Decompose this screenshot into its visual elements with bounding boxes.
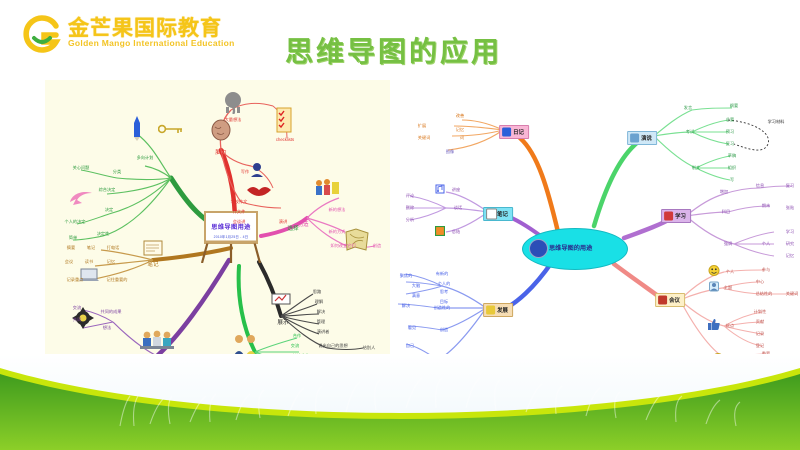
right-branch-label-1: 演说: [641, 136, 652, 142]
presentation-icon: [271, 293, 291, 311]
arrow-icon: [68, 190, 94, 210]
left-map-center-easel: 思维导图用途 2010年1月25日 - 4日: [200, 211, 262, 263]
right-branch-label-2: 学习: [675, 214, 686, 220]
smiley-yellow-icon: [709, 264, 720, 280]
left-node-0-6: 简单: [69, 236, 77, 240]
slide-canvas: 金芒果国际教育 Golden Mango International Educa…: [0, 0, 800, 450]
left-node-5-0: 合作: [293, 334, 301, 338]
left-node-6-1: 交流: [73, 306, 81, 310]
right-branch-badge-3: 会议: [655, 293, 685, 307]
person-blue-icon: [709, 280, 720, 296]
right-node-1-8: 草稿: [728, 154, 736, 158]
right-node-3-6: 优点: [726, 324, 734, 328]
right-node-5-0: 讲座: [452, 188, 460, 192]
left-node-0-2: 分类: [113, 170, 121, 174]
left-node-1-5: 会谈讲: [233, 220, 246, 224]
books-icon: [664, 212, 673, 221]
right-node-4-8: 解决: [402, 304, 410, 308]
left-branch-label-4: 展示: [277, 321, 288, 327]
right-node-2-4: 期末: [762, 204, 770, 208]
right-node-0-5: 图像: [446, 150, 454, 154]
right-node-1-5: 复习: [726, 142, 734, 146]
right-node-2-2: 复习: [786, 184, 794, 188]
left-node-4-1: 理解: [315, 300, 323, 304]
right-node-0-3: 关键词: [418, 136, 431, 140]
right-node-3-7: 计划性: [754, 310, 767, 314]
thinker-icon: [249, 162, 265, 182]
left-node-1-1: checklists: [276, 138, 294, 142]
right-node-2-3: 科目: [722, 210, 730, 214]
right-node-5-3: 删除: [406, 206, 414, 210]
left-node-6-3: 想法: [103, 326, 111, 330]
right-branch-badge-5: 笔记: [483, 207, 513, 221]
left-node-1-6: 演讲: [279, 220, 287, 224]
left-node-3-2: 打电话: [107, 246, 120, 250]
right-node-1-3: 总要: [726, 118, 734, 122]
left-branch-label-3: 笔记: [147, 263, 158, 269]
right-node-2-10: 记忆: [786, 254, 794, 258]
right-node-4-11: 自己: [406, 344, 414, 348]
right-node-2-8: 学习: [786, 230, 794, 234]
thumbs-up-icon: [708, 318, 720, 334]
speech-icon: [630, 134, 639, 143]
lips-icon: [246, 184, 272, 200]
development-icon: [486, 306, 495, 315]
left-node-6-2: 共同: [73, 318, 81, 322]
left-node-3-0: 摘要: [67, 246, 75, 250]
right-node-3-2: 主题: [724, 286, 732, 290]
right-branch-badge-0: 日记: [499, 125, 529, 139]
right-branch-label-4: 发展: [497, 308, 508, 314]
diary-person-icon: [502, 128, 511, 137]
pen-icon: [132, 115, 142, 145]
left-node-1-3: 学校作文: [231, 200, 248, 204]
right-node-5-2: 评论: [406, 194, 414, 198]
left-node-1-0: 大量想法: [225, 118, 242, 122]
right-node-2-7: 个人: [762, 242, 770, 246]
right-node-4-1: 个人的: [438, 282, 451, 286]
mango-g-logo-icon: [22, 14, 62, 54]
page-title: 思维导图的应用: [285, 30, 502, 70]
left-node-0-3: 综合决定: [99, 188, 116, 192]
right-node-1-0: 发言: [684, 106, 692, 110]
left-node-3-7: 记住重要的: [107, 278, 128, 282]
people-group-icon: [314, 179, 340, 201]
notebook-icon: [486, 209, 497, 220]
lecture-icon: [435, 182, 445, 198]
meeting-icon: [658, 296, 667, 305]
left-node-1-2: 写作: [241, 170, 249, 174]
left-node-3-6: 记录重点: [67, 278, 84, 282]
right-node-2-9: 研究: [786, 242, 794, 246]
brand-logo: 金芒果国际教育 Golden Mango International Educa…: [22, 12, 232, 58]
right-node-1-10: 写: [730, 178, 734, 182]
right-node-3-4: 总结性的: [756, 292, 773, 296]
left-node-4-0: 思路: [313, 290, 321, 294]
right-node-4-0: 有新的: [436, 272, 449, 276]
right-node-4-10: 看见: [408, 326, 416, 330]
left-node-3-5: 记忆: [107, 260, 115, 264]
right-node-0-4: 词: [460, 136, 464, 140]
left-node-0-1: 关心问题: [73, 166, 90, 170]
right-node-5-1: 谈话: [454, 206, 462, 210]
grass-banner-svg: [0, 354, 800, 450]
left-node-4-2: 解决: [317, 310, 325, 314]
left-node-0-0: 多向计划: [137, 156, 154, 160]
right-map-center-node: 思维导图的用途: [522, 228, 628, 270]
left-node-0-7: 决定性: [97, 232, 110, 236]
right-branch-badge-2: 学习: [661, 209, 691, 223]
right-branch-label-0: 日记: [513, 130, 524, 136]
elephant-icon: [222, 90, 244, 118]
left-node-4-3: 管理: [317, 320, 325, 324]
right-node-4-3: 大脑: [412, 284, 420, 288]
right-node-4-7: 创造性的: [434, 306, 451, 310]
right-node-4-6: 目标: [440, 300, 448, 304]
right-node-3-8: 贡献: [756, 320, 764, 324]
right-branch-badge-4: 发展: [483, 303, 513, 317]
right-node-4-9: 创造: [440, 328, 448, 332]
easel-icon: [200, 211, 262, 263]
right-node-3-9: 记录: [756, 332, 764, 336]
left-node-4-5: 说出自己的思想: [318, 344, 347, 348]
right-node-3-10: 登记: [756, 344, 764, 348]
right-node-3-3: 中心: [756, 280, 764, 284]
right-node-3-1: 参与: [762, 268, 770, 272]
checklist-icon: [276, 107, 294, 137]
brain-icon: [210, 119, 232, 145]
right-branch-label-5: 笔记: [497, 212, 508, 218]
left-branch-label-1: 脑力: [215, 151, 226, 157]
right-node-3-5: 关键词: [786, 292, 798, 296]
left-node-1-4: 作文件: [233, 210, 246, 214]
left-node-2-1: 新的方式: [329, 230, 346, 234]
right-node-2-1: 信息: [756, 184, 764, 188]
right-node-0-0: 改善: [456, 114, 464, 118]
left-node-3-4: 读书: [85, 260, 93, 264]
right-node-2-0: 增加: [720, 190, 728, 194]
left-node-6-0: 共同的成果: [101, 310, 122, 314]
right-branch-label-3: 会议: [669, 298, 680, 304]
left-node-0-5: 个人的决定: [65, 220, 86, 224]
mindmap-left: 思维导图用途 2010年1月25日 - 4日: [45, 80, 390, 390]
right-node-3-0: 个人: [726, 270, 734, 274]
left-node-3-3: 会议: [65, 260, 73, 264]
mindmap-right: 思维导图的用途 日记 演说 学习 会议 发展 笔记 改善 扩展 记: [398, 80, 798, 390]
left-node-4-6: 给别人: [363, 346, 376, 350]
key-icon: [158, 122, 184, 138]
right-node-4-4: 思考: [440, 290, 448, 294]
right-node-0-2: 记忆: [456, 128, 464, 132]
footer-decoration: [0, 354, 800, 450]
group-icon: [140, 330, 174, 354]
right-node-0-1: 扩展: [418, 124, 426, 128]
left-node-2-2: 如何改变它们: [330, 244, 355, 248]
left-node-2-0: 新的想法: [329, 208, 346, 212]
right-node-5-4: 分析: [406, 218, 414, 222]
globe-icon: [529, 239, 548, 258]
right-node-2-5: 张贴: [786, 206, 794, 210]
right-node-4-2: 聚焦的: [400, 274, 413, 278]
right-branch-badge-1: 演说: [627, 131, 657, 145]
left-node-0-4: 决定: [105, 208, 113, 212]
left-node-2-3: 创造: [373, 244, 381, 248]
left-node-3-1: 笔记: [87, 246, 95, 250]
right-node-4-5: 满意: [412, 294, 420, 298]
right-node-5-5: 总结: [452, 230, 460, 234]
right-node-1-1: 纲要: [730, 104, 738, 108]
left-node-5-1: 交流: [291, 344, 299, 348]
notebook-icon: [143, 240, 163, 260]
right-node-1-2: 考试: [686, 130, 694, 134]
summary-icon: [435, 224, 445, 240]
left-branch-label-2: 创造: [297, 223, 308, 229]
right-map-center-title: 思维导图的用途: [549, 243, 592, 252]
right-node-1-6: 学习材料: [768, 120, 785, 124]
right-node-1-4: 预习: [726, 130, 734, 134]
logo-english-name: Golden Mango International Education: [68, 38, 235, 48]
right-node-1-7: 制文: [692, 166, 700, 170]
right-node-2-6: 强调: [724, 242, 732, 246]
right-node-1-9: 组织: [728, 166, 736, 170]
left-node-4-4: 演讲者: [317, 330, 330, 334]
